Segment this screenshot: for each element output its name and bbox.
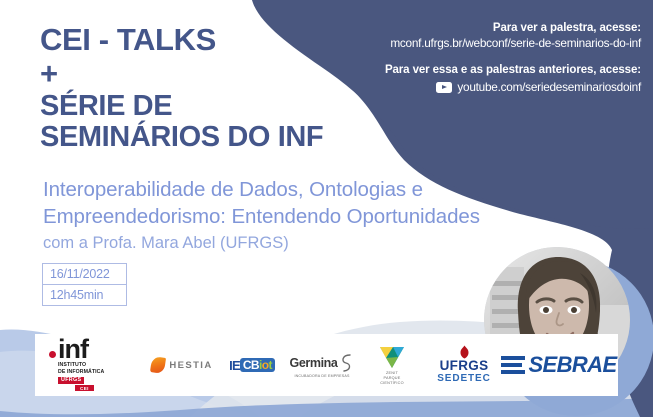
talk-title-line-1: Interoperabilidade de Dados, Ontologias … bbox=[43, 178, 423, 201]
inf-wordmark: inf bbox=[58, 339, 88, 361]
sponsor-logo-bar: inf INSTITUTO DE INFORMÁTICA UFRGS CEI H… bbox=[35, 334, 618, 396]
bars-icon bbox=[501, 356, 525, 375]
iecbiot-c: C bbox=[243, 358, 251, 372]
sedetec-wordmark: SEDETEC bbox=[437, 373, 491, 386]
logo-sebrae: SEBRAE bbox=[505, 352, 613, 378]
inf-sub-line-2: DE INFORMÁTICA bbox=[58, 369, 104, 376]
inf-badge-cei: CEI bbox=[75, 385, 94, 391]
inf-badge-ufrgs: UFRGS bbox=[58, 377, 84, 384]
logo-germina: Germina INCUBADORA DE EMPRESAS bbox=[283, 353, 361, 378]
headline-line-4: SEMINÁRIOS DO INF bbox=[40, 123, 440, 153]
zenit-sub-3: CIENTÍFICO bbox=[380, 381, 404, 386]
event-poster: CEI - TALKS + SÉRIE DE SEMINÁRIOS DO INF… bbox=[0, 0, 653, 417]
iecbiot-t: t bbox=[268, 358, 271, 372]
inf-dot-icon bbox=[49, 351, 56, 358]
watch-url[interactable]: mconf.ufrgs.br/webconf/serie-de-seminari… bbox=[311, 36, 641, 51]
logo-ufrgs-sedetec: UFRGS SEDETEC bbox=[423, 345, 505, 385]
talk-title: Interoperabilidade de Dados, Ontologias … bbox=[43, 177, 643, 255]
logo-hestia: HESTIA bbox=[143, 357, 221, 373]
triangle-icon bbox=[377, 344, 407, 370]
logo-iecbiot: IE CBiot bbox=[221, 358, 283, 373]
schedule-box: 16/11/2022 12h45min bbox=[42, 263, 127, 306]
hestia-wordmark: HESTIA bbox=[169, 360, 212, 371]
germina-subtitle: INCUBADORA DE EMPRESAS bbox=[294, 374, 349, 378]
iecbiot-prefix: IE bbox=[229, 358, 240, 373]
ufrgs-wordmark: UFRGS bbox=[440, 359, 489, 373]
links-block: Para ver a palestra, acesse: mconf.ufrgs… bbox=[311, 21, 641, 95]
iecbiot-pill: CBiot bbox=[240, 358, 275, 372]
logo-inf: inf INSTITUTO DE INFORMÁTICA UFRGS CEI bbox=[49, 339, 143, 391]
headline-line-3: SÉRIE DE bbox=[40, 92, 440, 122]
schedule-time: 12h45min bbox=[43, 284, 126, 305]
flame-icon bbox=[150, 356, 166, 374]
talk-title-line-2: Empreendedorismo: Entendendo Oportunidad… bbox=[43, 205, 480, 228]
iecbiot-b: B bbox=[251, 358, 259, 372]
archive-label: Para ver essa e as palestras anteriores,… bbox=[311, 63, 641, 77]
crest-icon bbox=[458, 345, 471, 359]
youtube-play-icon bbox=[436, 82, 452, 93]
logo-zenit: ZENIT PARQUE CIENTÍFICO bbox=[361, 344, 423, 385]
sebrae-wordmark: SEBRAE bbox=[528, 352, 616, 378]
germina-wordmark: Germina bbox=[290, 356, 338, 370]
archive-url[interactable]: youtube.com/seriedeseminariosdoinf bbox=[457, 80, 641, 95]
schedule-date: 16/11/2022 bbox=[43, 264, 126, 284]
swirl-icon bbox=[338, 353, 354, 373]
watch-label: Para ver a palestra, acesse: bbox=[311, 21, 641, 35]
